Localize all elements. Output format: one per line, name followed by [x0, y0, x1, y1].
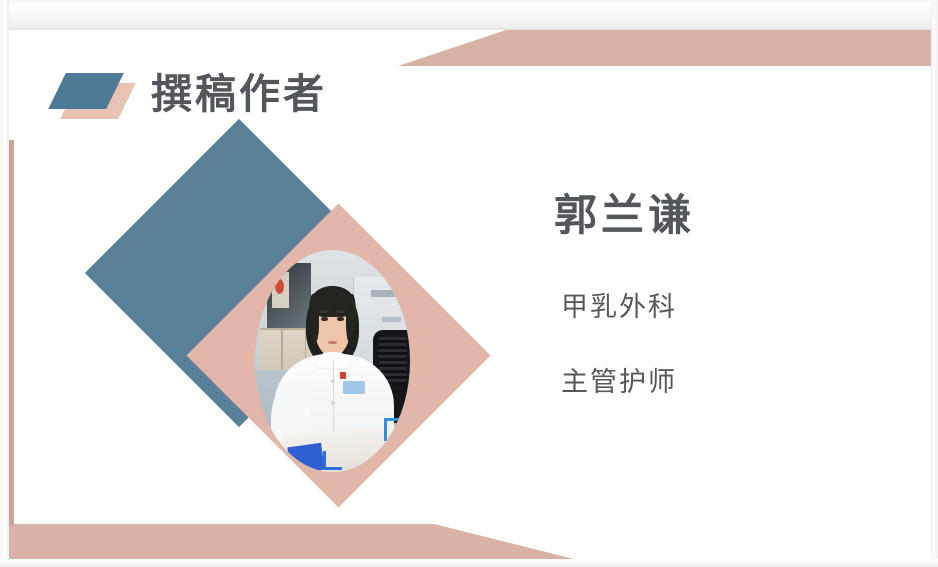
- photo-lapel-pin: [340, 372, 346, 379]
- person-job-title: 主管护师: [561, 369, 889, 396]
- title-marker-group: [51, 63, 133, 125]
- portrait-scene: [255, 250, 410, 472]
- photo-shelf-upper: [371, 290, 397, 297]
- portrait-composition: [119, 155, 509, 525]
- photo-paper-mark: [323, 451, 342, 470]
- photo-coat-button-2: [331, 401, 335, 405]
- slide-canvas: 撰稿作者: [9, 30, 931, 559]
- photo-coat-button-1: [331, 379, 335, 383]
- photo-id-badge: [343, 381, 365, 394]
- window-frame-left: [0, 0, 9, 567]
- page-title: 撰稿作者: [151, 74, 327, 115]
- photo-person-eye-right: [337, 317, 344, 321]
- decor-stripe-left: [9, 140, 14, 525]
- window-frame-top: [0, 0, 938, 30]
- person-name: 郭兰谦: [554, 195, 889, 238]
- photo-blue-folder: [287, 443, 324, 472]
- photo-person-mouth: [328, 341, 337, 344]
- photo-person-brow-right: [336, 310, 345, 313]
- slide-root: 撰稿作者: [0, 0, 938, 567]
- portrait-photo: [255, 250, 410, 472]
- photo-person-brow-left: [320, 310, 329, 313]
- photo-person-eye-left: [321, 317, 328, 321]
- photo-person-hair-right: [346, 294, 355, 343]
- window-frame-bottom: [0, 559, 938, 567]
- slide-title-block: 撰稿作者: [51, 60, 327, 128]
- decor-band-bottom-left: [9, 524, 931, 559]
- person-info-column: 郭兰谦 甲乳外科 主管护师: [529, 195, 889, 396]
- photo-person-hair-left: [309, 294, 318, 343]
- person-department: 甲乳外科: [561, 294, 889, 321]
- window-frame-right: [931, 0, 938, 567]
- photo-blue-tag: [384, 418, 404, 441]
- photo-shelf-lower: [382, 317, 401, 323]
